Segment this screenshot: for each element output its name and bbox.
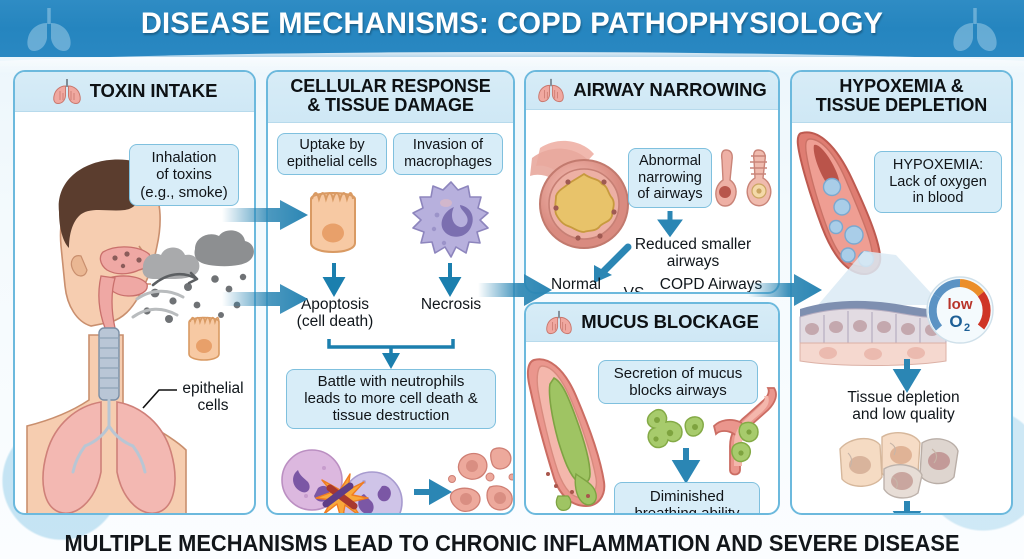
footer-caption: MULTIPLE MECHANISMS LEAD TO CHRONIC INFL…: [26, 530, 999, 557]
panel-hypoxemia-header: HYPOXEMIA & TISSUE DEPLETION: [792, 72, 1011, 123]
macrophage-cell: [410, 179, 492, 261]
arrow-down-apoptosis: [324, 263, 344, 295]
cell-debris: [446, 441, 515, 515]
callout-battle-text: Battle with neutrophils leads to more ce…: [304, 373, 477, 424]
panel-airway-header: AIRWAY NARROWING: [526, 72, 778, 110]
low-o2-gauge: low O 2: [925, 275, 995, 345]
lungs-icon: [537, 77, 565, 103]
callout-invasion-text: Invasion of macrophages: [404, 137, 492, 170]
callout-abnormal-narrowing: Abnormal narrowing of airways: [628, 148, 712, 208]
callout-diminished-breathing: Diminished breathing ability: [614, 482, 760, 515]
callout-diminished-text: Diminished breathing ability: [634, 488, 739, 515]
panel-toxin-body: Inhalation of toxins (e.g., smoke) epith…: [15, 112, 254, 515]
arrow-down-tissue-depletion: [895, 359, 919, 389]
flow-arrow-toxin-to-cell-upper: [222, 198, 310, 232]
lungs-icon: [948, 4, 1002, 54]
depleted-cells: [836, 431, 972, 497]
neutrophil-battle: [276, 438, 411, 515]
panel-mucus-header: MUCUS BLOCKAGE: [526, 304, 778, 342]
flow-arrow-cell-to-airway: [478, 272, 554, 308]
panel-airway-title: AIRWAY NARROWING: [573, 80, 766, 100]
gauge-line2: O: [949, 312, 962, 331]
panel-cellular-body: Uptake by epithelial cells Invasion of m…: [268, 123, 513, 515]
panel-hypoxemia-title: HYPOXEMIA & TISSUE DEPLETION: [816, 77, 987, 116]
flow-arrow-airway-to-hypox: [748, 272, 824, 308]
callout-invasion-of-macrophages: Invasion of macrophages: [393, 133, 503, 175]
arrow-down-necrosis: [440, 263, 460, 295]
panel-airway-body: Abnormal narrowing of airways Reduced sm…: [526, 110, 778, 294]
callout-inhalation-text: Inhalation of toxins (e.g., smoke): [140, 149, 228, 200]
panel-mucus-title: MUCUS BLOCKAGE: [581, 312, 758, 332]
lungs-icon: [545, 309, 573, 335]
panel-mucus-blockage: MUCUS BLOCKAGE Secretion of mucus b: [524, 302, 780, 515]
arrow-down-reduced-airways: [660, 211, 680, 235]
panel-hypoxemia-body: HYPOXEMIA: Lack of oxygen in blood low O…: [792, 123, 1011, 515]
arrow-down-overall: [895, 501, 919, 515]
panel-airway-narrowing: AIRWAY NARROWING: [524, 70, 780, 294]
header-banner: DISEASE MECHANISMS: COPD PATHOPHYSIOLOGY: [0, 0, 1024, 57]
arrow-down-diminished: [674, 448, 698, 480]
mucus-blobs: [640, 408, 706, 452]
blocked-branch: [706, 384, 780, 480]
callout-battle-with-neutrophils: Battle with neutrophils leads to more ce…: [286, 369, 496, 429]
epithelial-cell: [302, 181, 364, 261]
gauge-line1: low: [948, 296, 973, 313]
infographic-root: DISEASE MECHANISMS: COPD PATHOPHYSIOLOGY…: [0, 0, 1024, 559]
panel-toxin-title: TOXIN INTAKE: [90, 81, 218, 101]
panel-cellular-header: CELLULAR RESPONSE & TISSUE DAMAGE: [268, 72, 513, 123]
page-title: DISEASE MECHANISMS: COPD PATHOPHYSIOLOGY: [15, 7, 1008, 41]
lungs-icon: [52, 77, 82, 105]
epithelial-cell: [182, 308, 226, 366]
callout-uptake-by-epithelial-cells: Uptake by epithelial cells: [277, 133, 387, 175]
label-tissue-depletion: Tissue depletion and low quality: [816, 389, 991, 424]
panel-cellular-title: CELLULAR RESPONSE & TISSUE DAMAGE: [290, 77, 490, 116]
bracket-merge-arrow: [326, 335, 456, 371]
callout-abnormal-narrowing-text: Abnormal narrowing of airways: [637, 153, 702, 203]
callout-inhalation-of-toxins: Inhalation of toxins (e.g., smoke): [129, 144, 239, 206]
arrow-right-debris: [414, 481, 448, 503]
flow-arrow-toxin-to-cell-lower: [222, 282, 310, 316]
callout-uptake-text: Uptake by epithelial cells: [287, 137, 377, 170]
callout-hypoxemia-text: HYPOXEMIA: Lack of oxygen in blood: [889, 157, 987, 207]
panel-mucus-body: Secretion of mucus blocks airways: [526, 342, 778, 515]
alveoli-comparison: [714, 146, 776, 218]
callout-hypoxemia: HYPOXEMIA: Lack of oxygen in blood: [874, 151, 1002, 213]
label-reduced-smaller-airways: Reduced smaller airways: [618, 236, 768, 271]
panel-toxin-intake: TOXIN INTAKE: [13, 70, 256, 515]
panel-toxin-header: TOXIN INTAKE: [15, 72, 254, 112]
gauge-subscript: 2: [964, 322, 970, 334]
label-epithelial-cells: epithelial cells: [173, 380, 253, 415]
